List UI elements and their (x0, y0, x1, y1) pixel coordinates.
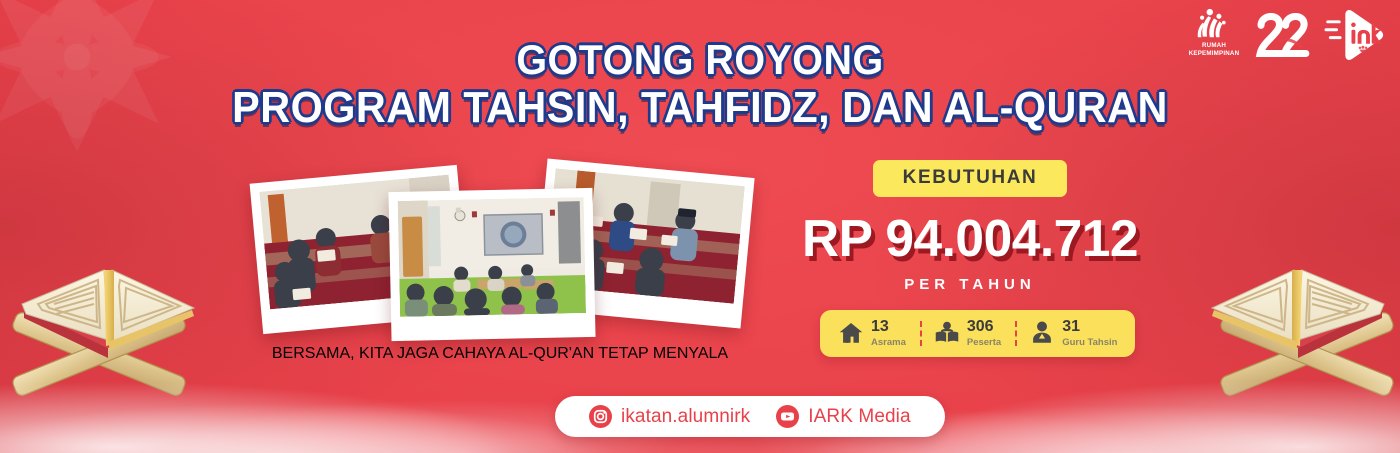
status-badge: KEBUTUHAN (873, 160, 1068, 197)
social-handle: ikatan.alumnirk (621, 406, 750, 428)
photo-collage (250, 160, 750, 340)
stat-peserta: 306 Peserta (920, 316, 1015, 351)
logo-rumah-kepemimpinan: RUMAH KEPEMIMPINAN (1186, 6, 1242, 58)
caption: BERSAMA, KITA JAGA CAHAYA AL-QUR'AN TETA… (250, 345, 750, 363)
house-icon (838, 320, 864, 346)
social-bar: ikatan.alumnirk IARK Media (555, 396, 945, 437)
stat-asrama: 13 Asrama (824, 316, 920, 351)
logo-iark (1324, 6, 1386, 64)
logo-anniversary-22 (1252, 6, 1314, 64)
person-reading-icon (934, 320, 960, 346)
youtube-icon (776, 405, 799, 428)
stat-guru-tahsin: 31 Guru Tahsin (1015, 316, 1131, 351)
stat-label: Guru Tahsin (1062, 338, 1117, 348)
teacher-icon (1029, 320, 1055, 346)
instagram-icon (589, 405, 612, 428)
social-instagram[interactable]: ikatan.alumnirk (589, 405, 750, 428)
stat-value: 31 (1062, 319, 1117, 336)
photo-card (388, 188, 595, 341)
funding-amount: RP 94.004.712 (782, 213, 1158, 265)
logo-rk-line2: KEPEMIMPINAN (1186, 50, 1242, 58)
stat-value: 306 (967, 319, 1001, 336)
quran-rehal-illustration-right (1182, 216, 1400, 431)
promo-banner: GOTONG ROYONG PROGRAM TAHSIN, TAHFIDZ, D… (0, 0, 1400, 453)
stat-label: Peserta (967, 338, 1001, 348)
funding-block: KEBUTUHAN RP 94.004.712 PER TAHUN (780, 160, 1160, 293)
title-line-1: GOTONG ROYONG (42, 38, 1358, 82)
social-handle: IARK Media (808, 406, 910, 428)
photo-ruang-kelas-proyektor (398, 197, 586, 317)
caption-text: BERSAMA, KITA JAGA CAHAYA AL-QUR'AN TETA… (272, 345, 728, 362)
logo-rk-line1: RUMAH (1186, 42, 1242, 50)
stat-value: 13 (871, 319, 906, 336)
quran-rehal-illustration-left (0, 216, 224, 431)
logo-group: RUMAH KEPEMIMPINAN (1186, 6, 1386, 64)
social-youtube[interactable]: IARK Media (776, 405, 910, 428)
stats-bar: 13 Asrama 306 Peserta (820, 310, 1135, 357)
funding-period: PER TAHUN (780, 276, 1160, 293)
stat-label: Asrama (871, 338, 906, 348)
title-line-2: PROGRAM TAHSIN, TAHFIDZ, DAN AL-QURAN (42, 85, 1358, 131)
